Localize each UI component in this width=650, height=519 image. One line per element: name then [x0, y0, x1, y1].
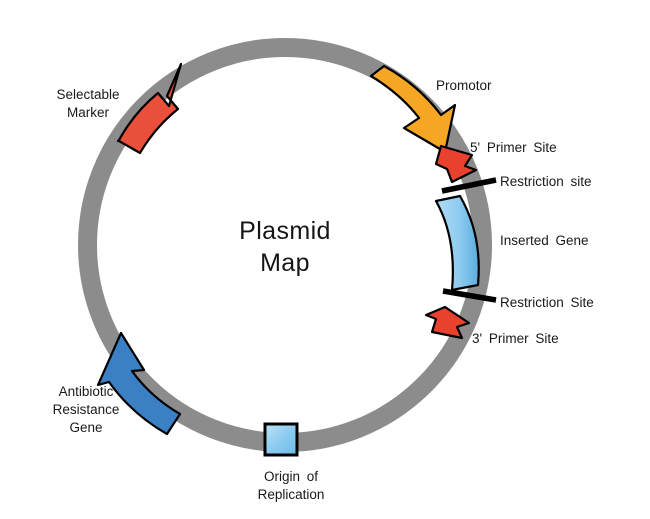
page-title-line2: Map [260, 249, 310, 277]
antibiotic-resistance-label-line3: Gene [69, 420, 102, 435]
page-title-line1: Plasmid [239, 217, 331, 245]
inserted-gene-label: Inserted Gene [500, 233, 589, 248]
primer-3-label: 3' Primer Site [472, 331, 559, 346]
restriction-site-1-label: Restriction site [500, 174, 592, 189]
promotor-label: Promotor [436, 78, 492, 93]
selectable-marker-label-line2: Marker [67, 105, 110, 120]
antibiotic-resistance-label-line1: Antibiotic [59, 384, 114, 399]
primer-5-label: 5' Primer Site [470, 140, 557, 155]
antibiotic-resistance-label-line2: Resistance [53, 402, 120, 417]
plasmid-map-diagram: Plasmid Map Promotor 5' Primer Site Rest… [0, 0, 650, 519]
restriction-site-2-label: Restriction Site [500, 295, 594, 310]
selectable-marker-label-line1: Selectable [56, 87, 119, 102]
origin-of-replication-label-line1: Origin of [264, 469, 318, 484]
origin-of-replication-square [265, 424, 297, 455]
origin-of-replication-label-line2: Replication [258, 487, 325, 502]
